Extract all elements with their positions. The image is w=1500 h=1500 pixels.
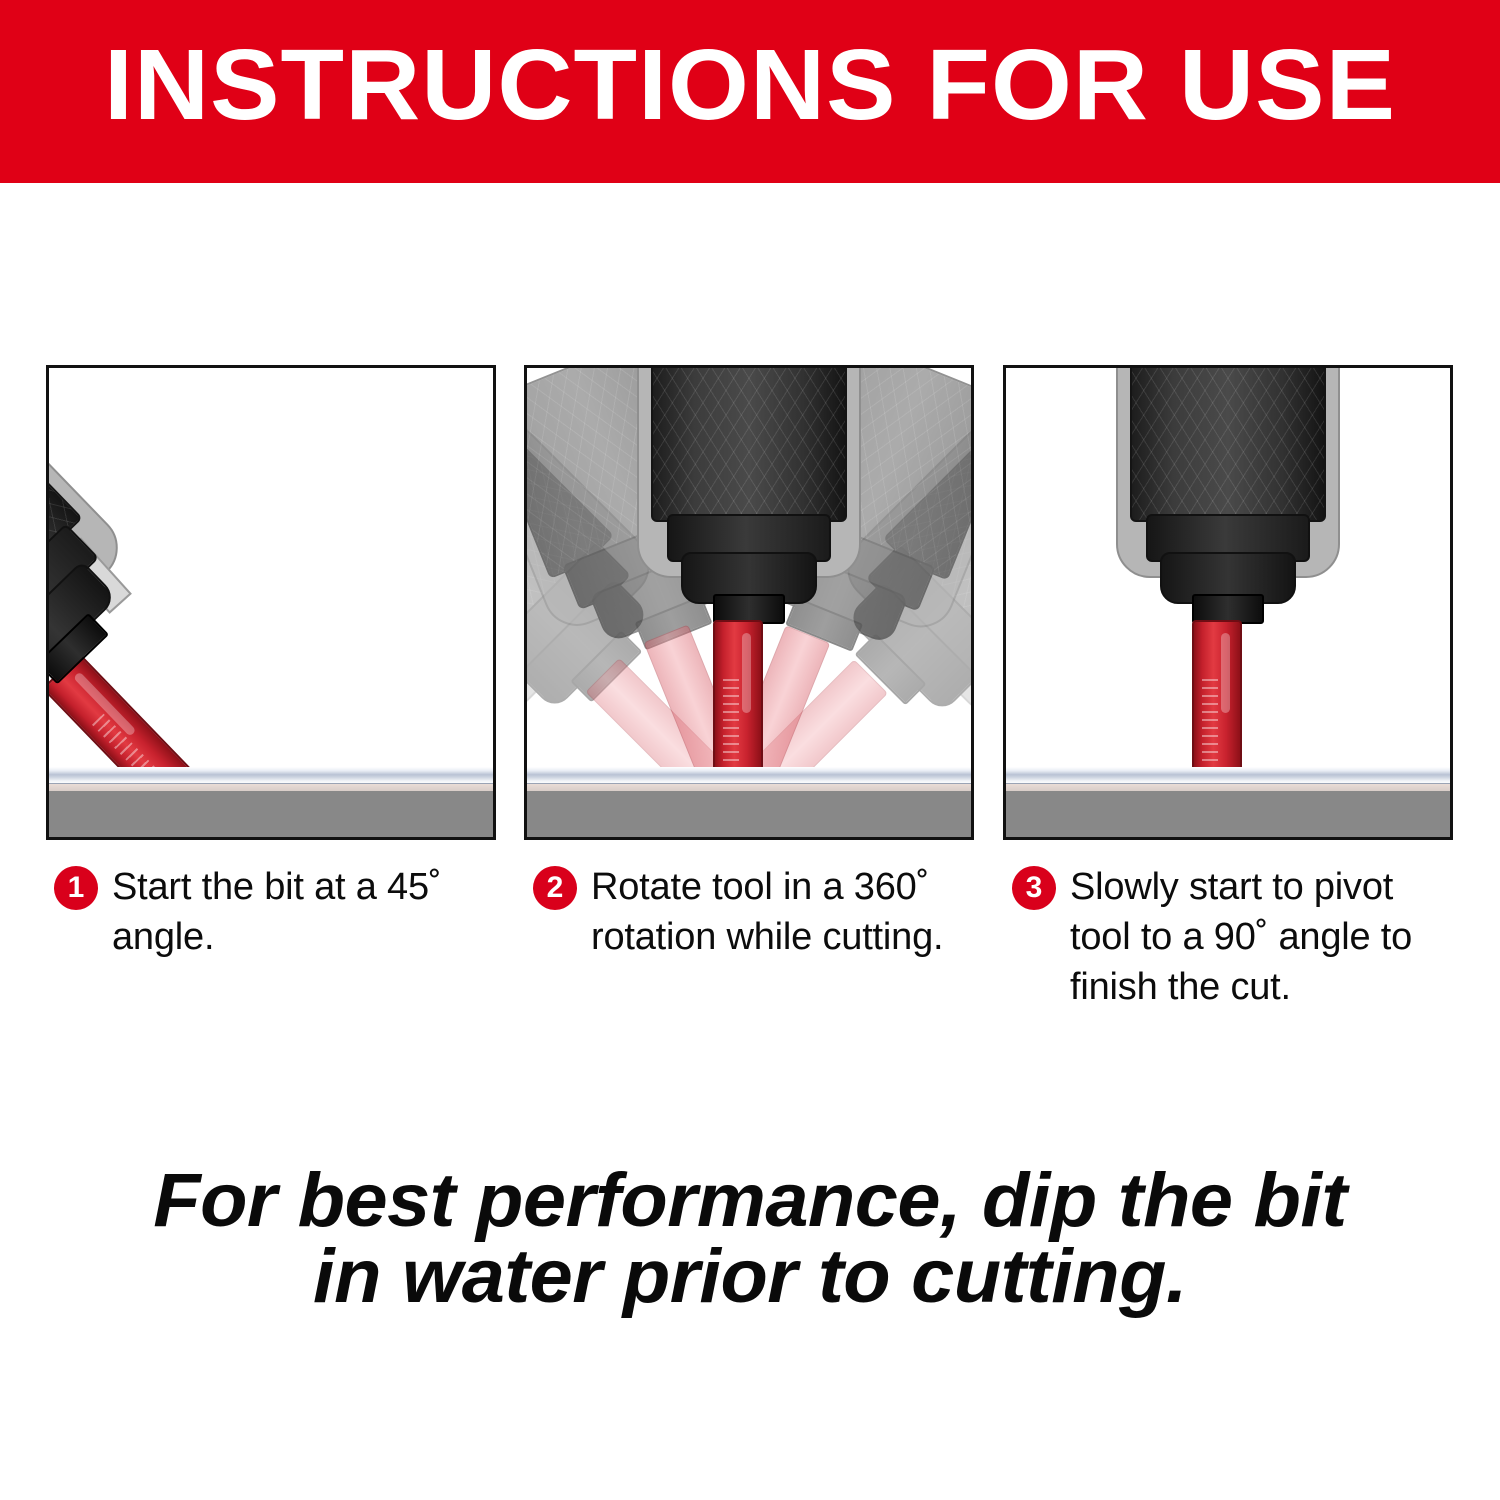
tile-glossy-edge <box>1006 767 1450 784</box>
tile-work-surface <box>49 767 493 837</box>
tile-edge-line <box>49 784 493 791</box>
step-3-caption: 3 Slowly start to pivot tool to a 90˚ an… <box>1012 862 1442 1012</box>
step-1-caption: 1 Start the bit at a 45˚ angle. <box>54 862 484 962</box>
bit-brand-mark <box>723 679 739 766</box>
tile-work-surface <box>527 767 971 837</box>
step-3-caption-text: Slowly start to pivot tool to a 90˚ angl… <box>1070 862 1442 1012</box>
step-1-scene <box>49 368 493 837</box>
step-3-illustration-panel <box>1003 365 1453 840</box>
step-number-badge-1: 1 <box>54 866 98 910</box>
tile-body <box>1006 791 1450 837</box>
tile-edge-line <box>1006 784 1450 791</box>
step-1-illustration-panel <box>46 365 496 840</box>
illustration-panel-row <box>46 365 1455 840</box>
tagline-line-2: in water prior to cutting. <box>0 1239 1500 1315</box>
tool-grip-texture <box>1130 368 1326 522</box>
step-number-badge-2: 2 <box>533 866 577 910</box>
tool-grip-texture <box>651 368 847 522</box>
tile-glossy-edge <box>527 767 971 784</box>
step-1-caption-text: Start the bit at a 45˚ angle. <box>112 862 484 962</box>
drill-tool-upright <box>651 368 843 638</box>
drill-tool-upright-final <box>1130 368 1322 638</box>
tile-body <box>49 791 493 837</box>
tile-work-surface <box>1006 767 1450 837</box>
instructions-header-banner: INSTRUCTIONS FOR USE <box>0 0 1500 183</box>
tile-body <box>527 791 971 837</box>
bit-highlight <box>1221 633 1230 713</box>
tile-edge-line <box>527 784 971 791</box>
step-3-line-1: Slowly start to pivot <box>1070 866 1393 908</box>
step-2-line-1: Rotate tool in a 360˚ <box>591 866 929 908</box>
step-2-caption-text: Rotate tool in a 360˚ rotation while cut… <box>591 862 963 962</box>
step-2-caption: 2 Rotate tool in a 360˚ rotation while c… <box>533 862 963 962</box>
step-3-line-2: tool to a 90˚ angle <box>1070 916 1370 958</box>
step-captions: 1 Start the bit at a 45˚ angle. 2 Rotate… <box>46 862 1466 1042</box>
step-2-illustration-panel <box>524 365 974 840</box>
bit-brand-mark <box>1202 679 1218 766</box>
bit-highlight <box>742 633 751 713</box>
step-number-badge-3: 3 <box>1012 866 1056 910</box>
tagline-line-1: For best performance, dip the bit <box>0 1163 1500 1239</box>
step-1-line-1: Start the bit at <box>112 866 345 908</box>
step-3-scene <box>1006 368 1450 837</box>
tagline: For best performance, dip the bit in wat… <box>0 1163 1500 1315</box>
step-2-scene <box>527 368 971 837</box>
tile-glossy-edge <box>49 767 493 784</box>
step-2-line-2: rotation while cutting. <box>591 916 943 958</box>
page-title: INSTRUCTIONS FOR USE <box>0 33 1500 137</box>
